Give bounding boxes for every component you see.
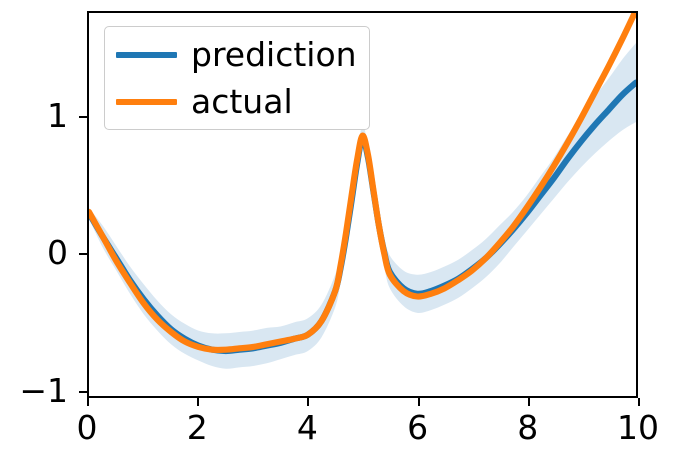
- x-tick-mark: [197, 398, 199, 406]
- y-tick-mark: [79, 116, 87, 118]
- y-tick-label: 0: [47, 233, 68, 273]
- y-tick-mark: [79, 391, 87, 393]
- x-tick-label: 6: [407, 408, 428, 448]
- legend-label-prediction: prediction: [191, 36, 357, 73]
- x-tick-mark: [418, 398, 420, 406]
- x-tick-mark: [87, 398, 89, 406]
- x-tick-label: 10: [617, 408, 659, 448]
- x-tick-label: 2: [187, 408, 208, 448]
- x-tick-mark: [528, 398, 530, 406]
- y-tick-mark: [79, 253, 87, 255]
- legend-swatch-actual: [116, 99, 177, 105]
- legend-item-actual: actual: [116, 83, 357, 120]
- x-tick-mark: [638, 398, 640, 406]
- y-tick-label: −1: [19, 371, 68, 411]
- x-tick-label: 8: [517, 408, 538, 448]
- x-tick-label: 4: [297, 408, 318, 448]
- x-tick-mark: [307, 398, 309, 406]
- legend-swatch-prediction: [116, 52, 177, 58]
- legend-item-prediction: prediction: [116, 36, 357, 73]
- figure-canvas: 024681010−1 prediction actual: [0, 0, 700, 452]
- y-tick-label: 1: [47, 96, 68, 136]
- legend-label-actual: actual: [191, 83, 293, 120]
- x-tick-label: 0: [77, 408, 98, 448]
- chart-legend: prediction actual: [104, 26, 370, 130]
